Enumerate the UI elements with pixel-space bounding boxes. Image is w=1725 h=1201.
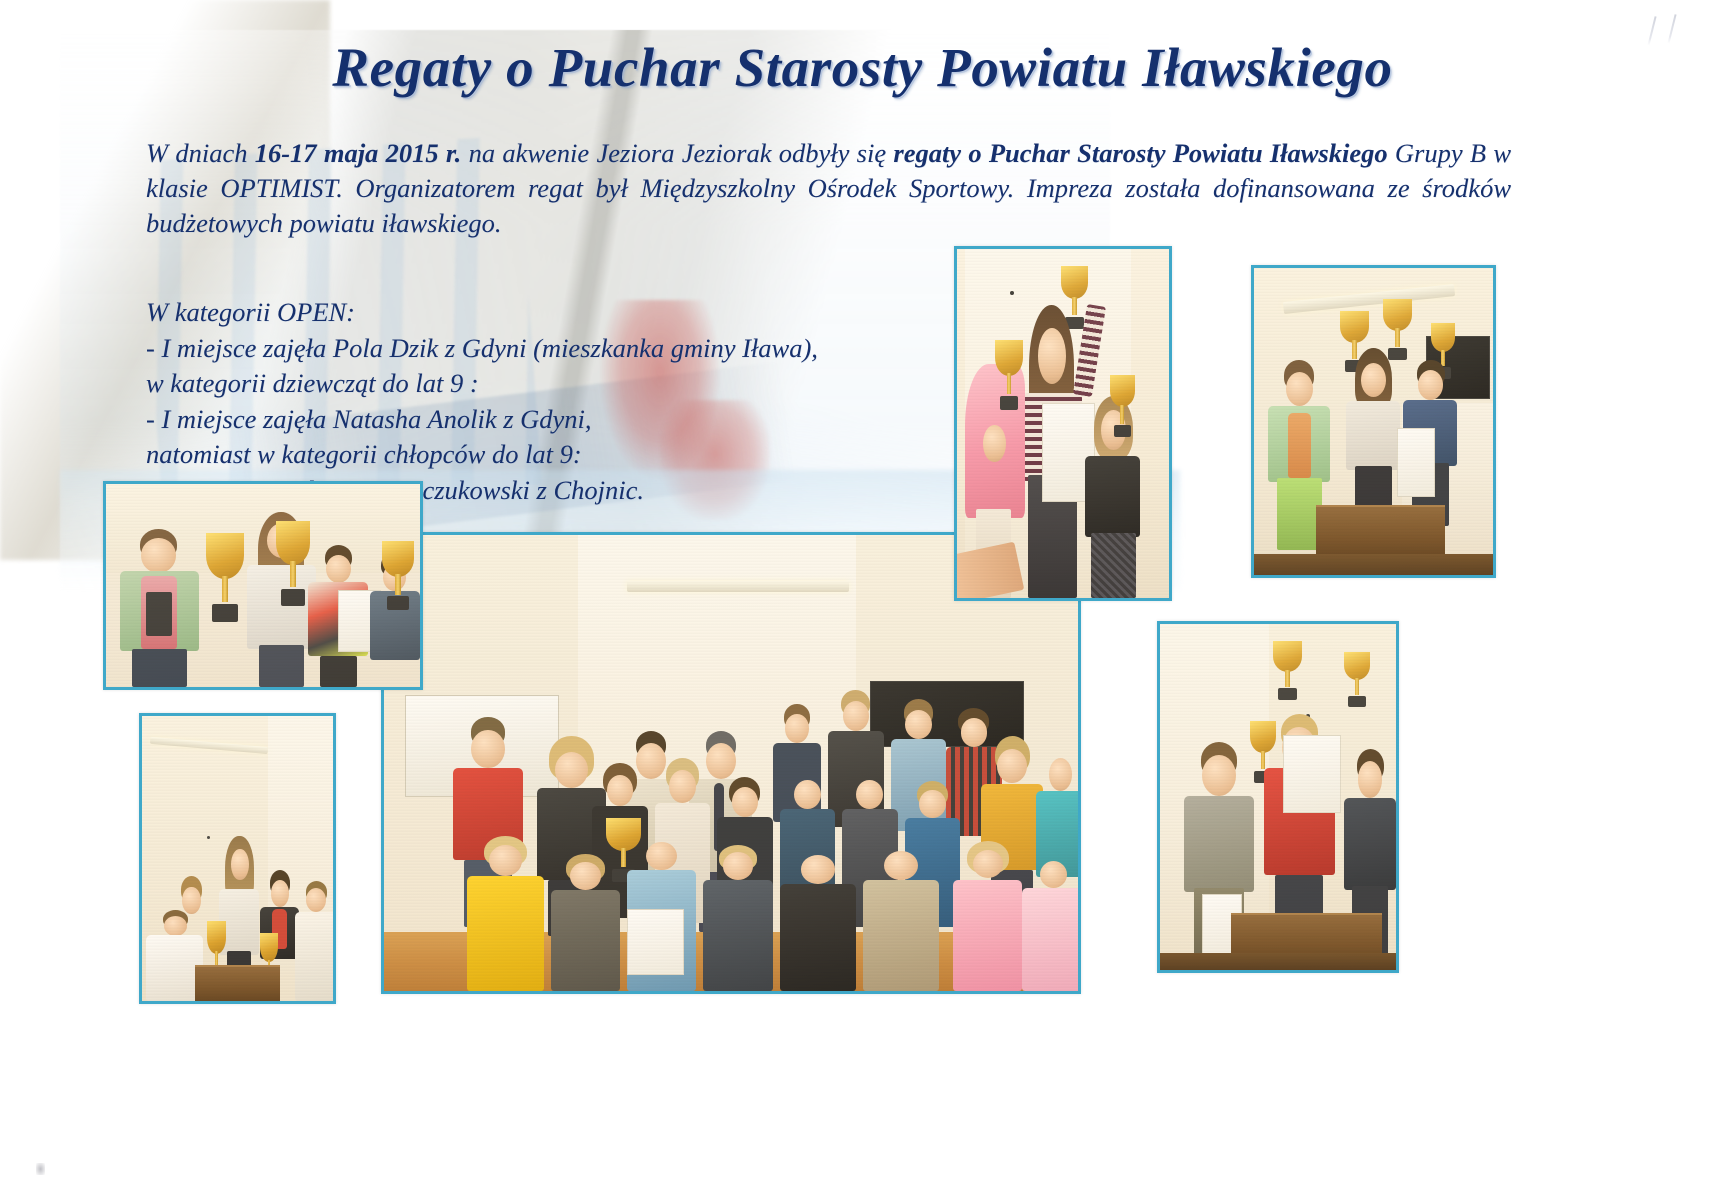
photo-group xyxy=(381,532,1081,994)
photo-podium-left xyxy=(103,481,423,690)
result-line-girls-first: - I miejsce zajęła Natasha Anolik z Gdyn… xyxy=(146,402,1046,438)
result-line-girls-label: w kategorii dziewcząt do lat 9 : xyxy=(146,366,1046,402)
results-block: W kategorii OPEN: - I miejsce zajęła Pol… xyxy=(146,295,1046,508)
photo-boys-podium xyxy=(1157,621,1399,973)
intro-paragraph: W dniach 16-17 maja 2015 r. na akwenie J… xyxy=(146,136,1511,241)
page-title: Regaty o Puchar Starosty Powiatu Iławski… xyxy=(0,36,1725,99)
results-heading: W kategorii OPEN: xyxy=(146,295,1046,331)
scan-edge-speck xyxy=(36,1163,45,1175)
result-line-open-first: - I miejsce zajęła Pola Dzik z Gdyni (mi… xyxy=(146,331,1046,367)
photo-podium-right xyxy=(1251,265,1496,578)
scanned-page: Regaty o Puchar Starosty Powiatu Iławski… xyxy=(0,0,1725,1201)
photo-award-ceremony xyxy=(139,713,336,1004)
intro-paragraph-text: W dniach 16-17 maja 2015 r. na akwenie J… xyxy=(146,136,1511,241)
photo-girls-podium xyxy=(954,246,1172,601)
result-line-boys-label: natomiast w kategorii chłopców do lat 9: xyxy=(146,437,1046,473)
